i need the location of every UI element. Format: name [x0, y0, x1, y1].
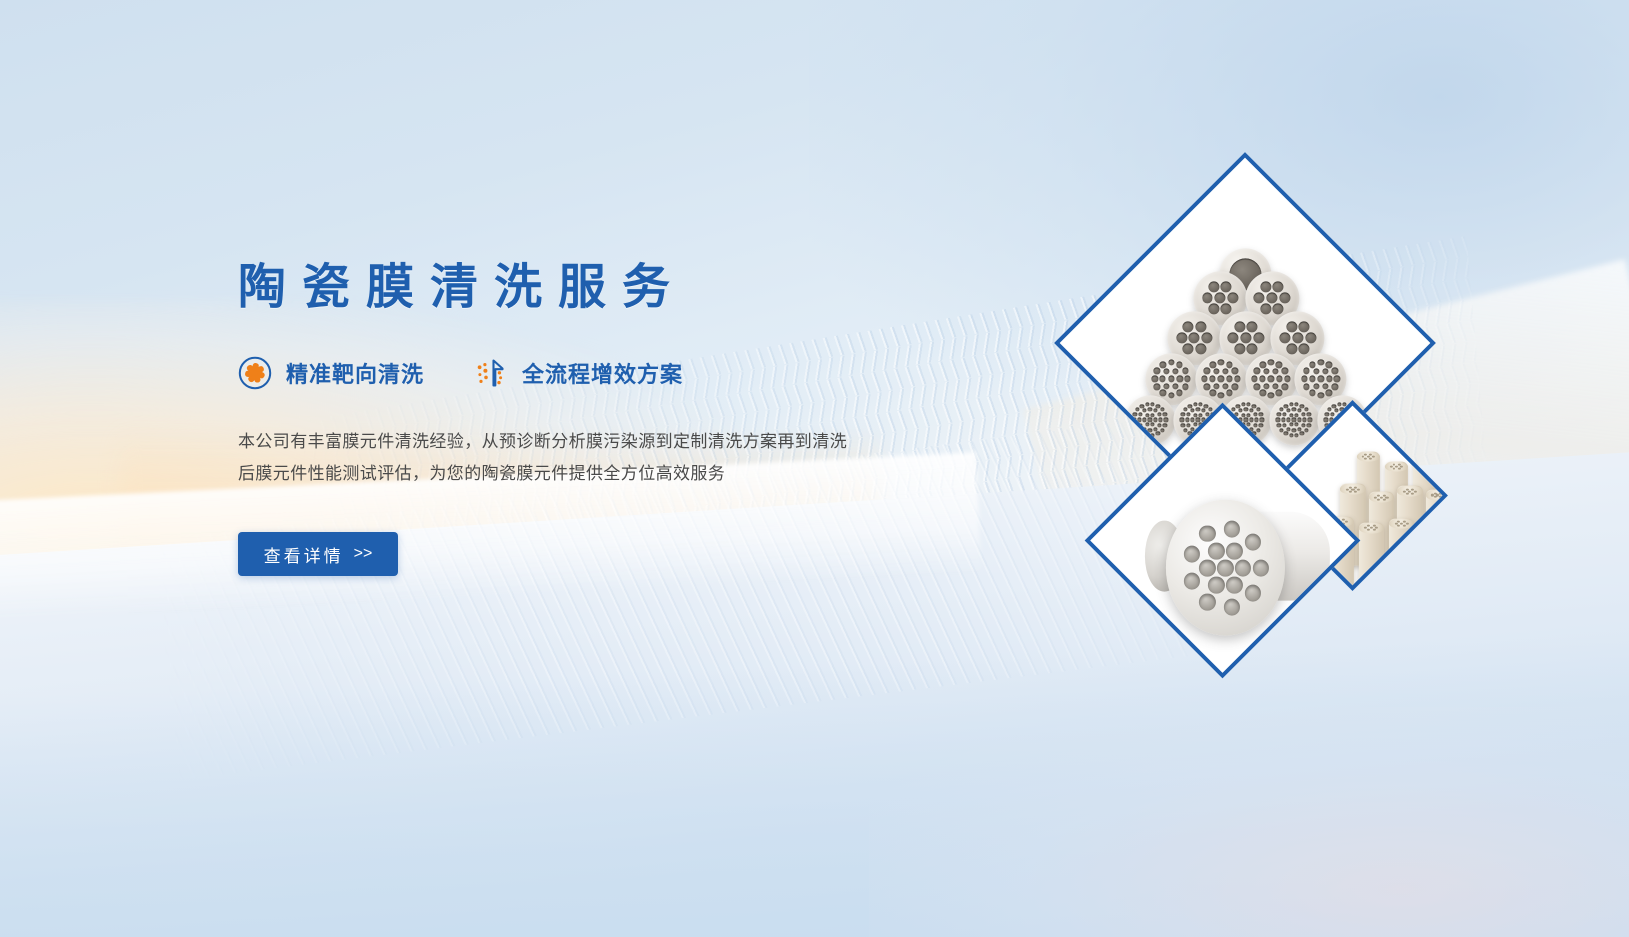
description-line-2: 后膜元件性能测试评估，为您的陶瓷膜元件提供全方位高效服务	[238, 458, 898, 490]
ceramic-cylinder	[1425, 489, 1447, 564]
page-title: 陶瓷膜清洗服务	[238, 258, 938, 318]
feature-label: 全流程增效方案	[522, 357, 683, 389]
ceramic-cylinder	[1358, 522, 1383, 591]
ceramic-cylinder	[1389, 518, 1414, 589]
view-details-button[interactable]: 查看详情 >>	[238, 532, 398, 576]
feature-item-full-process: 全流程增效方案	[474, 356, 683, 390]
double-chevron-right-icon: >>	[354, 545, 373, 563]
feature-item-precision-cleaning: 精准靶向清洗	[238, 356, 424, 390]
feature-label: 精准靶向清洗	[286, 357, 424, 389]
ceramic-cylinder	[1417, 520, 1441, 587]
feature-list: 精准靶向清洗	[238, 356, 938, 390]
background-bottom-tint	[869, 707, 1629, 937]
hero-banner: 陶瓷膜清洗服务	[0, 0, 1629, 937]
ceramic-cylinder-face	[1166, 499, 1286, 635]
hero-content: 陶瓷膜清洗服务	[238, 258, 938, 576]
view-details-button-label: 查看详情	[264, 542, 344, 567]
hero-description: 本公司有丰富膜元件清洗经验，从预诊断分析膜污染源到定制清洗方案再到清洗 后膜元件…	[238, 426, 898, 490]
ceramic-tube-face	[1269, 395, 1319, 445]
ceramic-tube-face	[1125, 395, 1175, 445]
flow-process-icon	[474, 356, 508, 390]
pinwheel-target-icon	[238, 356, 272, 390]
description-line-1: 本公司有丰富膜元件清洗经验，从预诊断分析膜污染源到定制清洗方案再到清洗	[238, 426, 898, 458]
diamond-gallery	[1040, 160, 1600, 680]
